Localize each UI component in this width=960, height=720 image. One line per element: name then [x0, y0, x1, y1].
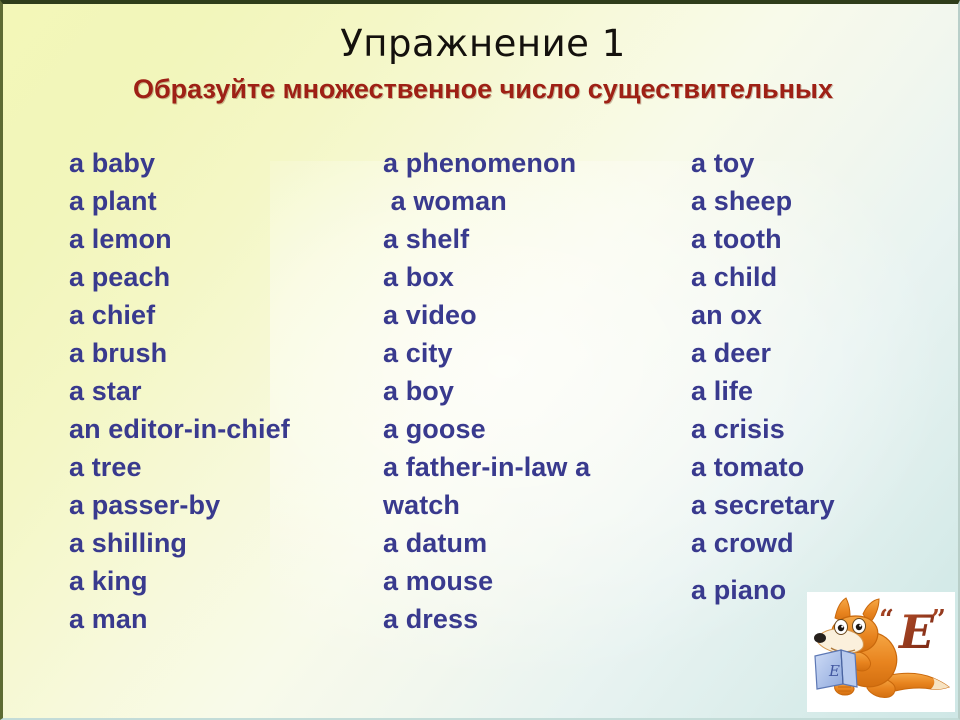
word-item: a crowd	[691, 524, 951, 562]
word-item: a phenomenon	[383, 144, 683, 182]
word-item: a city	[383, 334, 683, 372]
word-item: a tooth	[691, 220, 951, 258]
word-item: a toy	[691, 144, 951, 182]
word-item: a plant	[69, 182, 369, 220]
word-item: an ox	[691, 296, 951, 334]
word-item: a datum	[383, 524, 683, 562]
word-item: a secretary	[691, 486, 951, 524]
word-item: a passer-by	[69, 486, 369, 524]
word-column-2: a phenomenon a womana shelfa boxa videoa…	[383, 144, 683, 638]
word-item: a video	[383, 296, 683, 334]
word-item: a tree	[69, 448, 369, 486]
word-column-1: a babya planta lemona peacha chiefa brus…	[69, 144, 369, 638]
slide-canvas: Упражнение 1 Образуйте множественное чис…	[0, 0, 960, 720]
word-item: a tomato	[691, 448, 951, 486]
word-item: a mouse	[383, 562, 683, 600]
exercise-instruction: Образуйте множественное число существите…	[3, 74, 960, 105]
page-title: Упражнение 1	[3, 22, 960, 65]
word-item: an editor-in-chief	[69, 410, 369, 448]
word-item: a box	[383, 258, 683, 296]
word-item: a father-in-law a	[383, 448, 683, 486]
word-item: a goose	[383, 410, 683, 448]
word-item: a woman	[383, 182, 683, 220]
word-item: a life	[691, 372, 951, 410]
word-item: a man	[69, 600, 369, 638]
fox-illustration-card: E “ E ”	[807, 592, 955, 712]
fox-reading-book-icon: E “ E ”	[807, 592, 955, 712]
word-item: a crisis	[691, 410, 951, 448]
word-item: a boy	[383, 372, 683, 410]
word-item: a king	[69, 562, 369, 600]
word-item: a chief	[69, 296, 369, 334]
word-item: a star	[69, 372, 369, 410]
word-item: a child	[691, 258, 951, 296]
word-item: a baby	[69, 144, 369, 182]
word-item: watch	[383, 486, 683, 524]
word-item: a dress	[383, 600, 683, 638]
word-item: a brush	[69, 334, 369, 372]
word-item: a deer	[691, 334, 951, 372]
word-item: a lemon	[69, 220, 369, 258]
script-letter-e: E	[897, 605, 935, 659]
word-item: a shelf	[383, 220, 683, 258]
quote-open: “	[879, 605, 894, 635]
word-item: a sheep	[691, 182, 951, 220]
word-item: a peach	[69, 258, 369, 296]
word-item: a shilling	[69, 524, 369, 562]
word-column-3: a toya sheepa tootha childan oxa deera l…	[691, 144, 951, 609]
svg-text:E: E	[828, 662, 840, 680]
quote-close: ”	[931, 605, 946, 635]
